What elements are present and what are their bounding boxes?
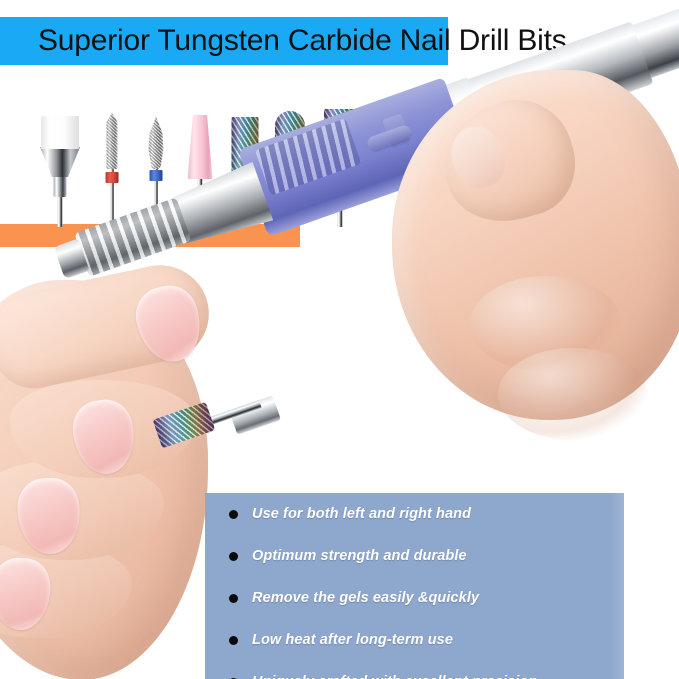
feature-text: Use for both left and right hand xyxy=(252,506,471,522)
feature-text: Uniquely crafted with excellent precisio… xyxy=(252,674,537,679)
feature-item: Remove the gels easily &quickly xyxy=(229,587,479,609)
bullet-icon xyxy=(229,636,238,645)
product-photo: Use for both left and right hand Optimum… xyxy=(0,80,679,679)
feature-item: Optimum strength and durable xyxy=(229,545,467,567)
bullet-icon xyxy=(229,552,238,561)
knuckle-shading xyxy=(498,348,648,440)
bullet-icon xyxy=(229,594,238,603)
features-panel: Use for both left and right hand Optimum… xyxy=(205,493,624,679)
bullet-icon xyxy=(229,510,238,519)
feature-text: Optimum strength and durable xyxy=(252,548,467,564)
feature-item: Uniquely crafted with excellent precisio… xyxy=(229,671,537,679)
feature-text: Remove the gels easily &quickly xyxy=(252,590,479,606)
title-highlighted-text: Superior Tungsten Carbide xyxy=(38,24,392,57)
product-marketing-image: Superior Tungsten CarbideNail Drill Bits xyxy=(0,0,679,679)
feature-text: Low heat after long-term use xyxy=(252,632,453,648)
feature-item: Use for both left and right hand xyxy=(229,503,471,525)
handpiece-ribbed-nosecone xyxy=(74,197,191,276)
feature-item: Low heat after long-term use xyxy=(229,629,453,651)
